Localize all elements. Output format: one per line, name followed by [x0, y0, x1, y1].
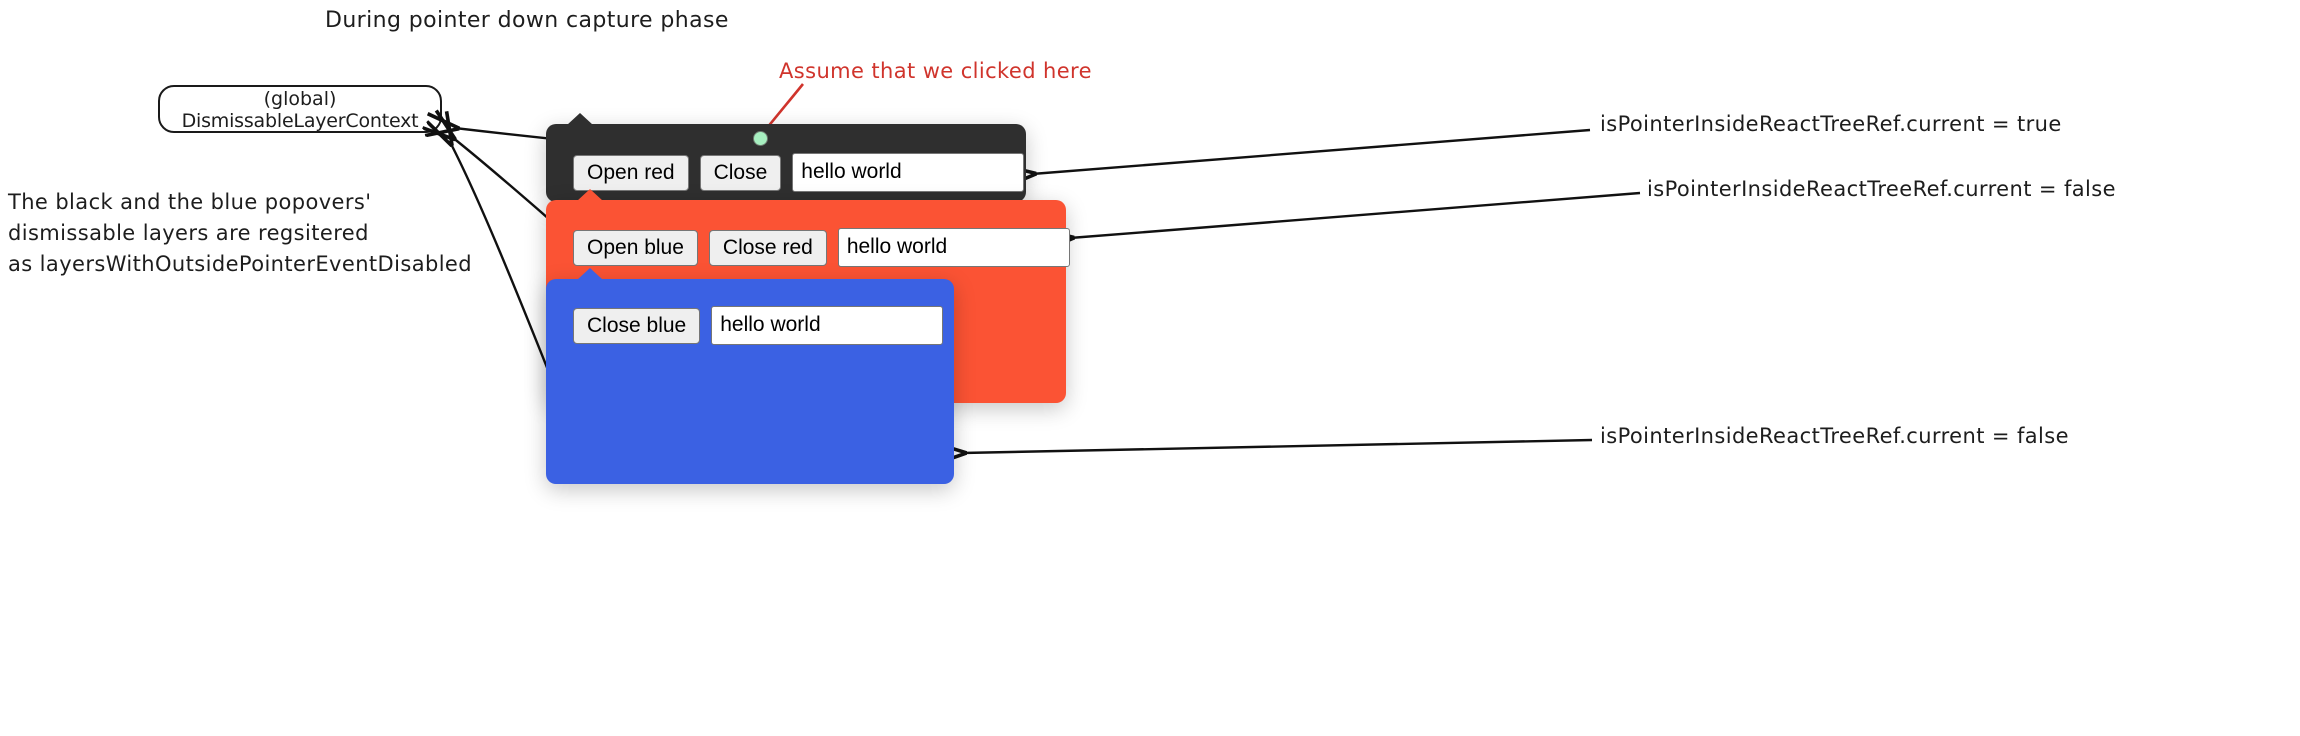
open-blue-button[interactable]: Open blue — [573, 230, 698, 266]
annotation-red-popover: isPointerInsideReactTreeRef.current = fa… — [1647, 174, 2116, 204]
annotation-black-popover: isPointerInsideReactTreeRef.current = tr… — [1600, 109, 2062, 139]
arrow-true-to-black-popover — [1032, 130, 1590, 174]
blue-popover: Close blue — [546, 279, 954, 484]
note-line-2: dismissable layers are regsitered — [8, 221, 369, 245]
blue-popover-text-input[interactable] — [711, 306, 943, 345]
click-point-dot — [753, 131, 768, 146]
note-line-1: The black and the blue popovers' — [8, 190, 371, 214]
page-title: During pointer down capture phase — [325, 6, 729, 36]
explanatory-note: The black and the blue popovers'dismissa… — [8, 187, 472, 280]
context-box-line-name: DismissableLayerContext — [160, 110, 440, 132]
close-blue-button[interactable]: Close blue — [573, 308, 700, 344]
click-annotation-label: Assume that we clicked here — [779, 56, 1092, 86]
close-red-button[interactable]: Close red — [709, 230, 827, 266]
popover-arrow-notch-blue — [577, 268, 603, 280]
arrow-false-to-blue-popover — [962, 440, 1592, 453]
context-box-line-global: (global) — [160, 88, 440, 110]
black-popover-controls: Open red Close — [573, 153, 1024, 192]
popover-arrow-notch-black — [567, 113, 593, 125]
close-button[interactable]: Close — [700, 155, 782, 191]
red-popover-text-input[interactable] — [838, 228, 1070, 267]
blue-popover-controls: Close blue — [573, 306, 943, 345]
global-dismissable-layer-context-box: (global) DismissableLayerContext — [158, 85, 442, 133]
open-red-button[interactable]: Open red — [573, 155, 689, 191]
red-popover-controls: Open blue Close red — [573, 228, 1070, 267]
black-popover-text-input[interactable] — [792, 153, 1024, 192]
black-popover: Open red Close — [546, 124, 1026, 202]
note-line-3: as layersWithOutsidePointerEventDisabled — [8, 252, 472, 276]
arrow-false-to-red-popover — [1070, 193, 1640, 238]
popover-arrow-notch-red — [577, 189, 603, 201]
annotation-blue-popover: isPointerInsideReactTreeRef.current = fa… — [1600, 421, 2069, 451]
